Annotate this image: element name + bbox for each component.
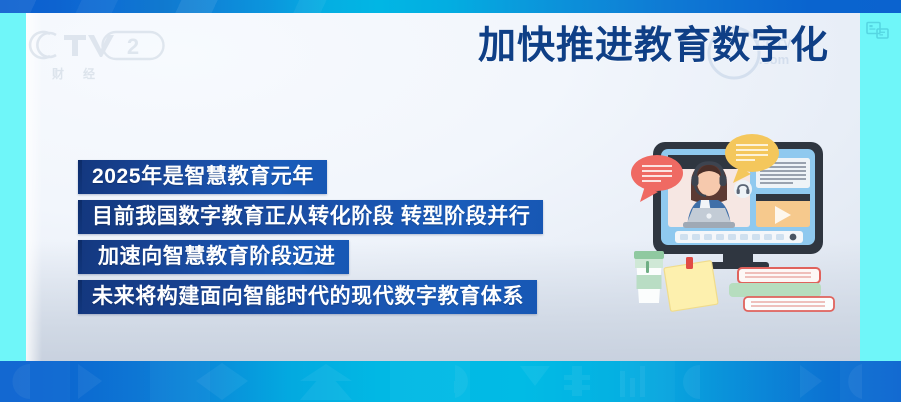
caption-line-2: 目前我国数字教育正从转化阶段 转型阶段并行 <box>78 200 543 234</box>
bottom-band-pattern <box>0 361 901 402</box>
stacked-books <box>729 268 834 311</box>
page-title: 加快推进教育数字化 <box>478 26 829 67</box>
sticky-note-with-pin <box>664 257 718 311</box>
top-gradient-strip <box>0 0 901 13</box>
caption-group: 2025年是智慧教育元年 目前我国数字教育正从转化阶段 转型阶段并行 加速向智慧… <box>78 160 543 314</box>
caption-line-1: 2025年是智慧教育元年 <box>78 160 327 194</box>
broadcast-frame: 2 财 经 CCTV .com 加快推进教育数字化 2025年是智慧教育元年 目… <box>0 0 901 402</box>
left-cyan-band <box>0 13 26 361</box>
caption-line-4: 未来将构建面向智能时代的现代数字教育体系 <box>78 280 537 314</box>
headphone-badge-icon <box>734 180 752 198</box>
video-player-with-play-button <box>756 194 810 227</box>
online-education-illustration <box>615 128 865 328</box>
right-cyan-band <box>860 13 901 361</box>
caption-line-3: 加速向智慧教育阶段迈进 <box>78 240 349 274</box>
bottom-decorative-band <box>0 361 901 402</box>
thumbnail-strip <box>675 231 803 243</box>
coffee-cup <box>634 251 664 303</box>
screen-share-icon <box>866 21 890 41</box>
